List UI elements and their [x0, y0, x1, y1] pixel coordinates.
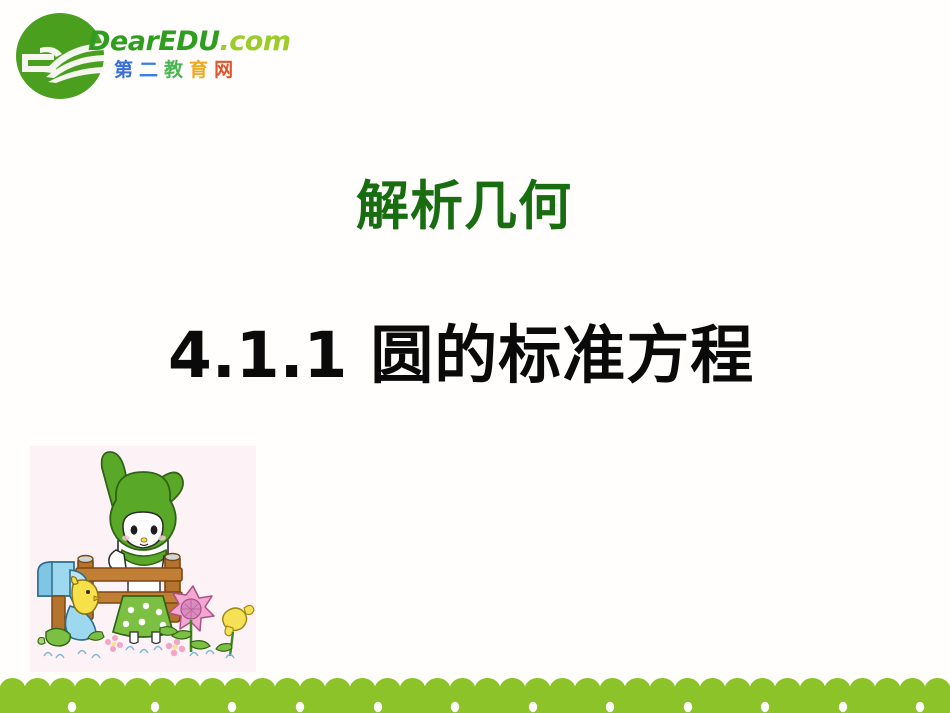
subject-heading: 解析几何 [356, 177, 572, 236]
logo-text-block: DearEDU.com 第二教育网 [88, 28, 288, 98]
logo-wordmark-suffix: .com [220, 26, 291, 57]
logo-subtitle-char-5: 网 [214, 59, 233, 81]
page-title-text: 圆的标准方程 [370, 319, 754, 392]
logo-subtitle-char-4: 育 [189, 59, 208, 81]
bunny-garden-illustration [30, 446, 256, 672]
logo-subtitle-char-1: 第 [114, 59, 133, 81]
logo-wordmark: DearEDU.com [88, 28, 291, 55]
logo-wordmark-main: DearEDU [88, 26, 220, 57]
slide-canvas: DearEDU.com 第二教育网 解析几何 4.1.1 圆的标准方程 [0, 0, 950, 713]
logo-subtitle: 第二教育网 [114, 61, 239, 80]
page-title: 4.1.1 圆的标准方程 [168, 318, 754, 394]
logo-subtitle-char-3: 教 [164, 59, 183, 81]
bottom-scallop-decoration [0, 677, 950, 713]
page-title-number: 4.1.1 [168, 319, 347, 392]
dearedu-logo[interactable]: DearEDU.com 第二教育网 [10, 6, 285, 104]
logo-subtitle-char-2: 二 [139, 59, 158, 81]
